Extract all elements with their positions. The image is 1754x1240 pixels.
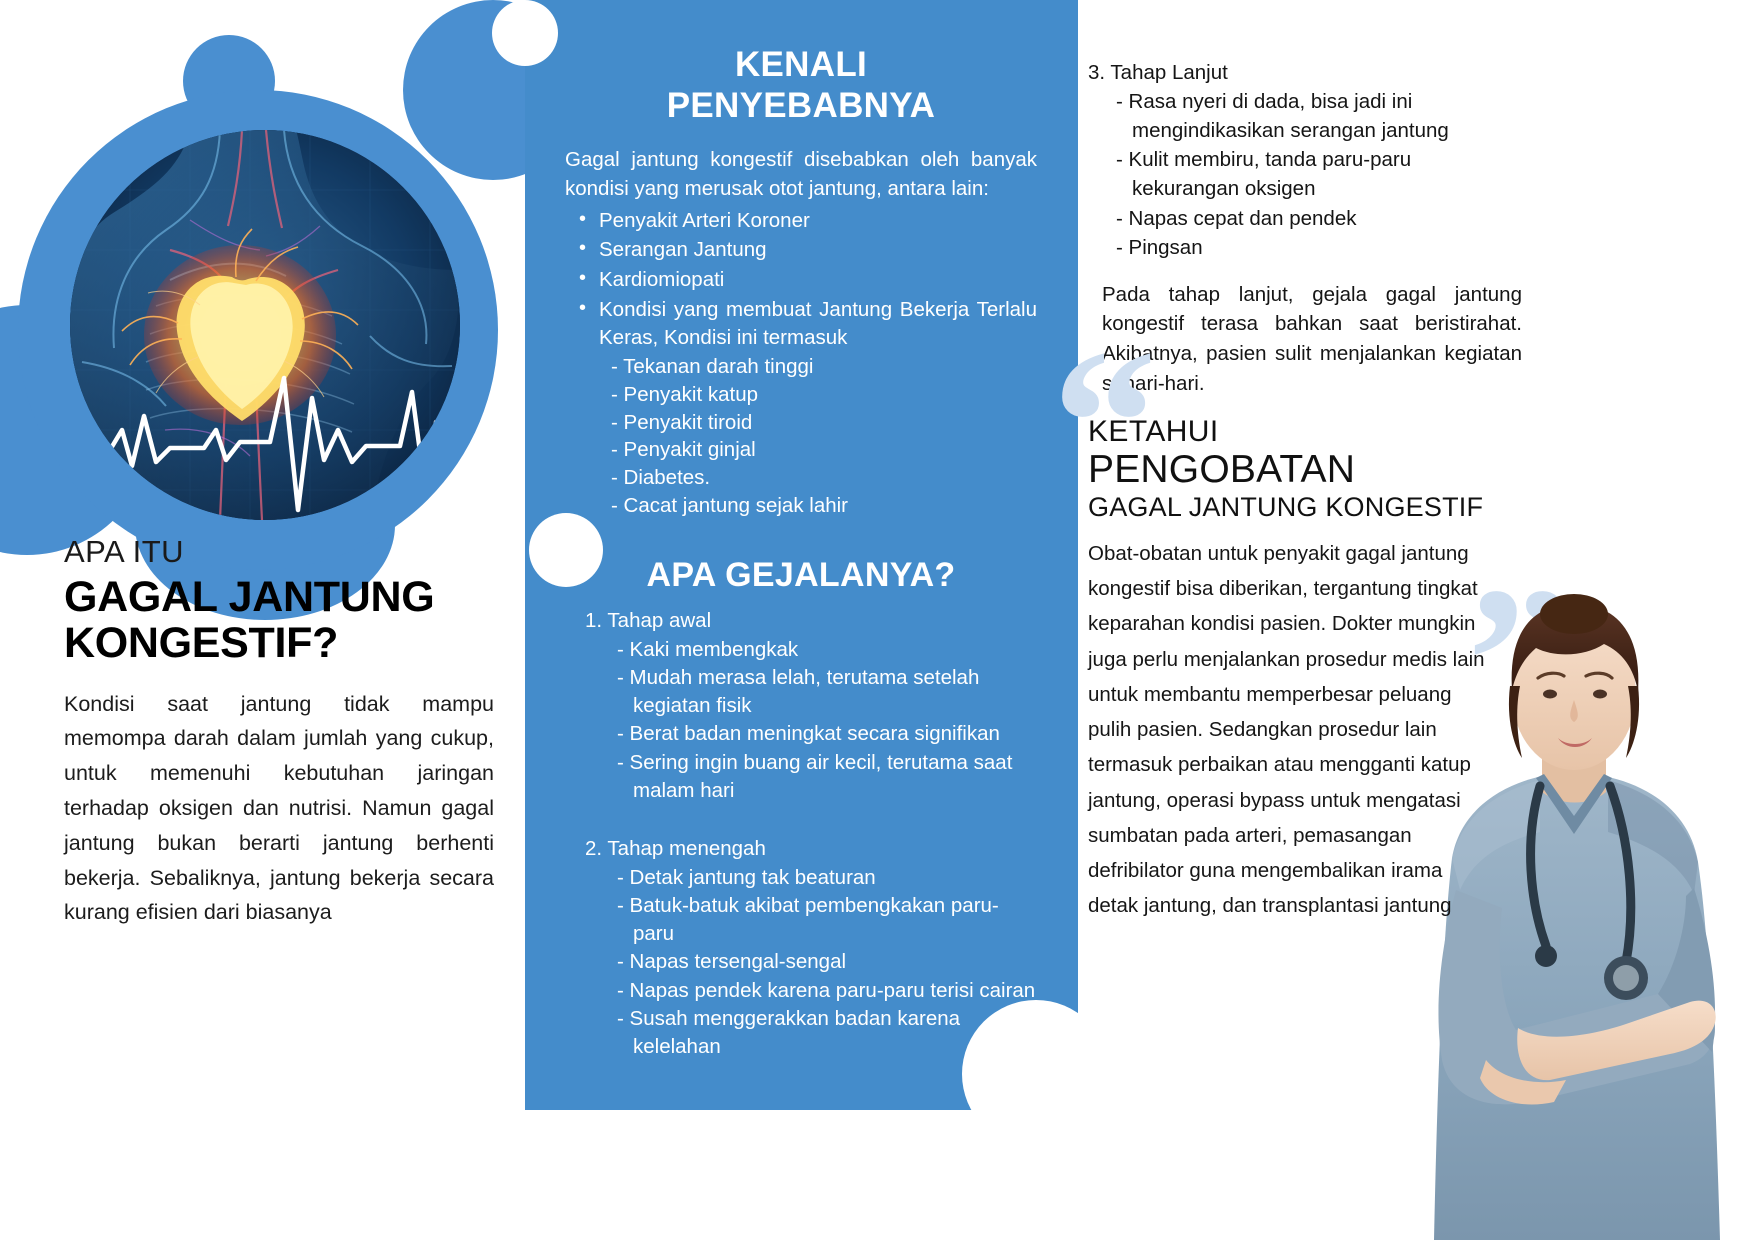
stage1-heading: 1. Tahap awal	[585, 607, 1037, 635]
list-item: Kardiomiopati	[565, 266, 1037, 294]
infographic-poster: APA ITU GAGAL JANTUNG KONGESTIF? Kondisi…	[0, 0, 1754, 1240]
list-item: - Kulit membiru, tanda paru-paru kekuran…	[1116, 145, 1522, 203]
symptoms-heading: APA GEJALANYA?	[565, 555, 1037, 595]
list-item: - Pingsan	[1116, 233, 1522, 262]
stage2-heading: 2. Tahap menengah	[585, 835, 1037, 863]
page-title-line1: GAGAL JANTUNG	[64, 574, 494, 620]
treatment-kicker: KETAHUI	[1088, 415, 1508, 449]
list-item: - Susah menggerakkan badan karena kelela…	[617, 1005, 1037, 1062]
list-item: Penyakit Arteri Koroner	[565, 207, 1037, 235]
page-title-line2: KONGESTIF?	[64, 620, 494, 666]
causes-intro: Gagal jantung kongestif disebabkan oleh …	[565, 145, 1037, 203]
list-item: - Napas pendek karena paru-paru terisi c…	[617, 977, 1037, 1005]
causes-heading-line2: PENYEBABNYA	[565, 85, 1037, 126]
list-item: - Penyakit ginjal	[599, 436, 1037, 464]
definition-body: Kondisi saat jantung tidak mampu memompa…	[64, 687, 494, 931]
treatment-subtitle: GAGAL JANTUNG KONGESTIF	[1088, 491, 1508, 523]
treatment-body: Obat-obatan untuk penyakit gagal jantung…	[1088, 536, 1488, 924]
treatment-section: KETAHUI PENGOBATAN GAGAL JANTUNG KONGEST…	[1088, 415, 1508, 924]
list-item: Kondisi yang membuat Jantung Bekerja Ter…	[565, 296, 1037, 351]
list-item: - Penyakit tiroid	[599, 409, 1037, 437]
list-item: - Mudah merasa lelah, terutama setelah k…	[617, 664, 1037, 721]
list-item: - Kaki membengkak	[617, 636, 1037, 664]
page-title: GAGAL JANTUNG KONGESTIF?	[64, 574, 494, 667]
list-item: - Cacat jantung sejak lahir	[599, 492, 1037, 520]
causes-heading-line1: KENALI	[565, 44, 1037, 85]
stage3-heading: 3. Tahap Lanjut	[1088, 58, 1522, 87]
causes-list: Penyakit Arteri Koroner Serangan Jantung…	[565, 207, 1037, 351]
spacer	[565, 805, 1037, 831]
symptoms-stage1: 1. Tahap awal - Kaki membengkak - Mudah …	[565, 607, 1037, 805]
list-item: - Penyakit katup	[599, 381, 1037, 409]
list-item: - Napas cepat dan pendek	[1116, 204, 1522, 233]
list-item: - Sering ingin buang air kecil, terutama…	[617, 749, 1037, 806]
list-item: - Diabetes.	[599, 464, 1037, 492]
causes-heading: KENALI PENYEBABNYA	[565, 44, 1037, 127]
list-item: Serangan Jantung	[565, 236, 1037, 264]
list-item: - Rasa nyeri di dada, bisa jadi ini meng…	[1116, 87, 1522, 145]
list-item: - Napas tersengal-sengal	[617, 948, 1037, 976]
heart-image	[70, 130, 460, 520]
causes-and-symptoms-section: KENALI PENYEBABNYA Gagal jantung kongest…	[565, 44, 1037, 1062]
causes-sublist: - Tekanan darah tinggi - Penyakit katup …	[599, 353, 1037, 519]
list-item: - Tekanan darah tinggi	[599, 353, 1037, 381]
treatment-title: PENGOBATAN	[1088, 449, 1508, 492]
definition-section: APA ITU GAGAL JANTUNG KONGESTIF? Kondisi…	[64, 534, 494, 930]
list-item: - Berat badan meningkat secara signifika…	[617, 720, 1037, 748]
decor-notch-top-left	[492, 0, 558, 66]
symptoms-stage2: 2. Tahap menengah - Detak jantung tak be…	[565, 835, 1037, 1061]
list-item: - Batuk-batuk akibat pembengkakan paru-p…	[617, 892, 1037, 949]
list-item: - Detak jantung tak beaturan	[617, 864, 1037, 892]
definition-kicker: APA ITU	[64, 534, 494, 570]
